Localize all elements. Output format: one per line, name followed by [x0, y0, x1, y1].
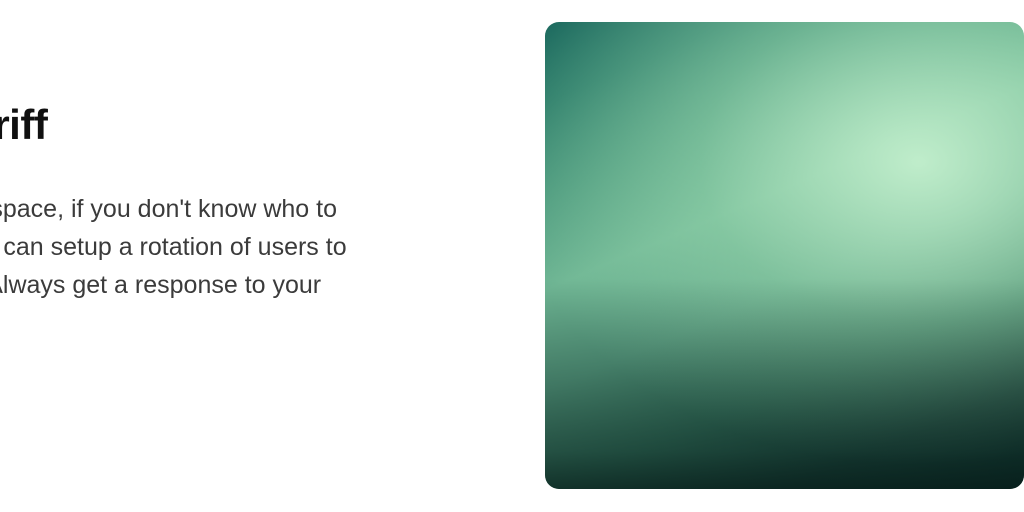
page-description: your workspace, if you don't know who to…: [0, 190, 472, 342]
page-title: @sheriff: [0, 101, 47, 149]
left-text-column: @sheriff your workspace, if you don't kn…: [0, 0, 520, 512]
product-screenshot-panel: Daniel Sheffield 1:40 PM Hey @sheriff , …: [545, 22, 1024, 489]
